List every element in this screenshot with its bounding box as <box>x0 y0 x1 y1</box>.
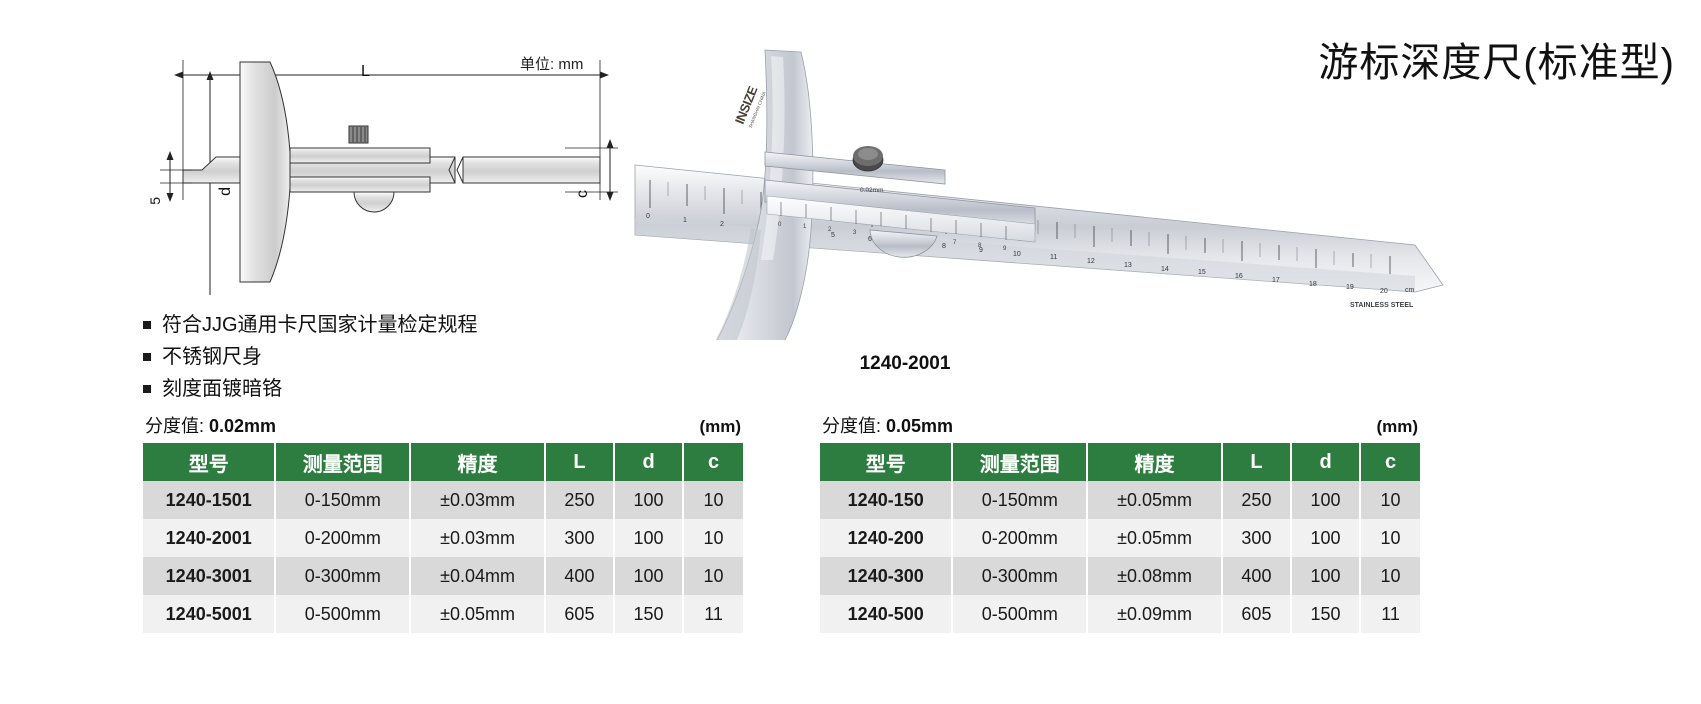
table-row: 1240-5001 0-500mm ±0.05mm 605 150 11 <box>143 595 743 633</box>
column-header-range: 测量范围 <box>275 443 410 481</box>
cell-accuracy: ±0.03mm <box>410 519 545 557</box>
column-header-model: 型号 <box>143 443 275 481</box>
feature-list: 符合JJG通用卡尺国家计量检定规程 不锈钢尺身 刻度面镀暗铬 <box>143 312 663 408</box>
cell-range: 0-150mm <box>275 481 410 519</box>
svg-text:13: 13 <box>1124 262 1132 269</box>
svg-text:16: 16 <box>1235 273 1243 280</box>
cell-accuracy: ±0.09mm <box>1087 595 1222 633</box>
technical-drawing: 单位: mm L d c 5 <box>140 20 640 300</box>
svg-text:1: 1 <box>683 217 687 224</box>
square-bullet-icon <box>143 385 151 393</box>
cell-L: 400 <box>1222 557 1291 595</box>
table-row: 1240-150 0-150mm ±0.05mm 250 100 10 <box>820 481 1420 519</box>
feature-text: 刻度面镀暗铬 <box>162 376 282 402</box>
cell-accuracy: ±0.05mm <box>1087 481 1222 519</box>
table-caption-row: 分度值: 0.05mm (mm) <box>820 412 1420 438</box>
svg-text:15: 15 <box>1198 269 1206 276</box>
dimension-label-d: d <box>217 187 235 196</box>
table-header-row: 型号 测量范围 精度 L d c <box>143 443 743 481</box>
resolution-caption: 分度值: 0.05mm <box>822 412 953 438</box>
cell-d: 100 <box>614 557 683 595</box>
column-header-range: 测量范围 <box>952 443 1087 481</box>
column-header-c: c <box>683 443 743 481</box>
cell-d: 100 <box>1291 519 1360 557</box>
specification-table: 型号 测量范围 精度 L d c 1240-150 0-150mm ±0.05m… <box>820 443 1420 633</box>
cell-range: 0-300mm <box>952 557 1087 595</box>
cell-L: 300 <box>545 519 614 557</box>
table-unit-label: (mm) <box>1376 417 1418 437</box>
list-item: 不锈钢尺身 <box>143 344 663 370</box>
cell-model: 1240-200 <box>820 519 952 557</box>
square-bullet-icon <box>143 321 151 329</box>
svg-text:20: 20 <box>1380 288 1388 295</box>
product-photo-caption: 1240-2001 <box>615 353 1195 375</box>
cell-L: 605 <box>1222 595 1291 633</box>
table-row: 1240-1501 0-150mm ±0.03mm 250 100 10 <box>143 481 743 519</box>
cell-c: 10 <box>1360 557 1420 595</box>
cell-model: 1240-2001 <box>143 519 275 557</box>
cell-model: 1240-1501 <box>143 481 275 519</box>
svg-text:10: 10 <box>1013 251 1021 258</box>
column-header-c: c <box>1360 443 1420 481</box>
cell-accuracy: ±0.03mm <box>410 481 545 519</box>
svg-text:2: 2 <box>720 221 724 228</box>
cell-L: 300 <box>1222 519 1291 557</box>
cell-accuracy: ±0.04mm <box>410 557 545 595</box>
cell-d: 100 <box>1291 557 1360 595</box>
cell-c: 10 <box>1360 519 1420 557</box>
resolution-caption: 分度值: 0.02mm <box>145 412 276 438</box>
cell-d: 150 <box>1291 595 1360 633</box>
spec-table-002: 分度值: 0.02mm (mm) 型号 测量范围 精度 L d c 1240-1… <box>143 412 743 633</box>
cell-c: 11 <box>1360 595 1420 633</box>
feature-text: 符合JJG通用卡尺国家计量检定规程 <box>162 312 478 338</box>
drawing-unit-note: 单位: mm <box>520 53 583 74</box>
specification-table: 型号 测量范围 精度 L d c 1240-1501 0-150mm ±0.03… <box>143 443 743 633</box>
table-row: 1240-200 0-200mm ±0.05mm 300 100 10 <box>820 519 1420 557</box>
list-item: 符合JJG通用卡尺国家计量检定规程 <box>143 312 663 338</box>
cell-c: 10 <box>683 481 743 519</box>
resolution-caption-value: 0.02mm <box>209 416 276 436</box>
svg-text:18: 18 <box>1309 281 1317 288</box>
resolution-caption-value: 0.05mm <box>886 416 953 436</box>
cell-range: 0-200mm <box>275 519 410 557</box>
square-bullet-icon <box>143 353 151 361</box>
svg-text:14: 14 <box>1161 266 1169 273</box>
svg-text:0.02mm: 0.02mm <box>860 187 883 194</box>
table-row: 1240-300 0-300mm ±0.08mm 400 100 10 <box>820 557 1420 595</box>
column-header-d: d <box>1291 443 1360 481</box>
svg-text:0: 0 <box>646 213 650 220</box>
table-row: 1240-500 0-500mm ±0.09mm 605 150 11 <box>820 595 1420 633</box>
svg-text:19: 19 <box>1346 284 1354 291</box>
cell-d: 100 <box>614 481 683 519</box>
cell-model: 1240-500 <box>820 595 952 633</box>
column-header-L: L <box>545 443 614 481</box>
spec-table-005: 分度值: 0.05mm (mm) 型号 测量范围 精度 L d c 1240-1… <box>820 412 1420 633</box>
dimension-label-L: L <box>361 63 370 81</box>
dimension-label-c: c <box>574 190 592 198</box>
svg-text:12: 12 <box>1087 258 1095 265</box>
cell-range: 0-200mm <box>952 519 1087 557</box>
cell-model: 1240-300 <box>820 557 952 595</box>
table-caption-row: 分度值: 0.02mm (mm) <box>143 412 743 438</box>
svg-text:STAINLESS STEEL: STAINLESS STEEL <box>1350 302 1414 309</box>
cell-range: 0-300mm <box>275 557 410 595</box>
list-item: 刻度面镀暗铬 <box>143 376 663 402</box>
cell-L: 400 <box>545 557 614 595</box>
cell-L: 250 <box>1222 481 1291 519</box>
table-header-row: 型号 测量范围 精度 L d c <box>820 443 1420 481</box>
table-row: 1240-2001 0-200mm ±0.03mm 300 100 10 <box>143 519 743 557</box>
svg-text:cm: cm <box>1405 287 1415 294</box>
column-header-accuracy: 精度 <box>1087 443 1222 481</box>
column-header-L: L <box>1222 443 1291 481</box>
table-unit-label: (mm) <box>699 417 741 437</box>
cell-c: 11 <box>683 595 743 633</box>
cell-d: 150 <box>614 595 683 633</box>
resolution-caption-prefix: 分度值: <box>822 416 886 436</box>
table-row: 1240-3001 0-300mm ±0.04mm 400 100 10 <box>143 557 743 595</box>
svg-text:17: 17 <box>1272 277 1280 284</box>
svg-text:8: 8 <box>942 243 946 250</box>
product-photo: 0 1 2 3 4 5 6 7 8 9 10 11 12 13 14 15 16… <box>615 30 1455 340</box>
product-photo-svg: 0 1 2 3 4 5 6 7 8 9 10 11 12 13 14 15 16… <box>615 30 1455 340</box>
cell-accuracy: ±0.08mm <box>1087 557 1222 595</box>
cell-c: 10 <box>1360 481 1420 519</box>
column-header-accuracy: 精度 <box>410 443 545 481</box>
cell-model: 1240-5001 <box>143 595 275 633</box>
cell-model: 1240-150 <box>820 481 952 519</box>
cell-range: 0-500mm <box>275 595 410 633</box>
cell-model: 1240-3001 <box>143 557 275 595</box>
cell-d: 100 <box>1291 481 1360 519</box>
feature-text: 不锈钢尺身 <box>162 344 262 370</box>
dimension-label-5: 5 <box>147 197 163 205</box>
cell-range: 0-150mm <box>952 481 1087 519</box>
cell-L: 250 <box>545 481 614 519</box>
cell-accuracy: ±0.05mm <box>1087 519 1222 557</box>
svg-text:11: 11 <box>1050 254 1057 261</box>
cell-c: 10 <box>683 519 743 557</box>
cell-d: 100 <box>614 519 683 557</box>
cell-L: 605 <box>545 595 614 633</box>
svg-text:5: 5 <box>831 232 835 239</box>
column-header-model: 型号 <box>820 443 952 481</box>
cell-accuracy: ±0.05mm <box>410 595 545 633</box>
column-header-d: d <box>614 443 683 481</box>
resolution-caption-prefix: 分度值: <box>145 416 209 436</box>
cell-c: 10 <box>683 557 743 595</box>
cell-range: 0-500mm <box>952 595 1087 633</box>
